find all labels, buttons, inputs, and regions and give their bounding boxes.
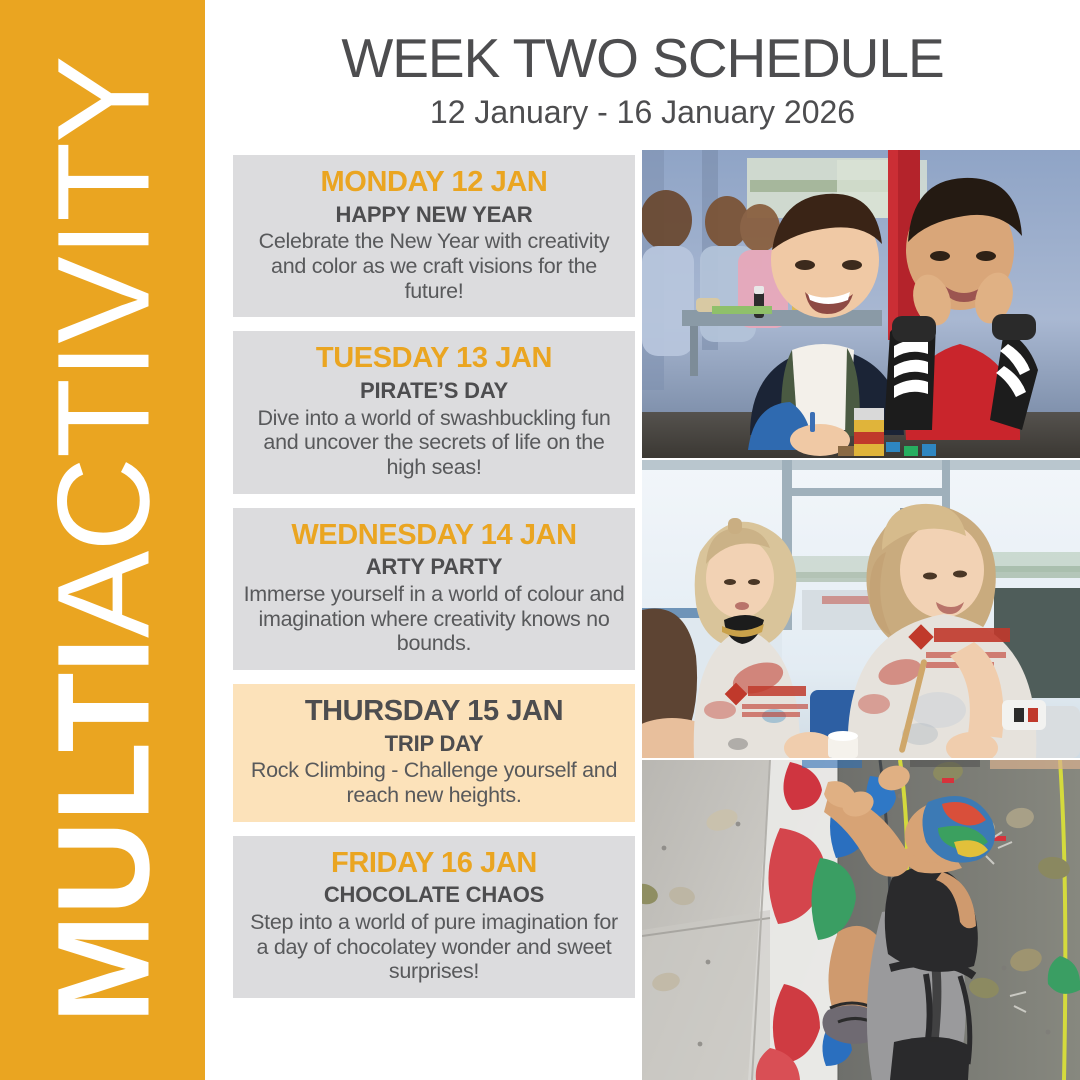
photo-lego-craft	[642, 150, 1080, 458]
poster-canvas: MULTIACTIVITY WEEK TWO SCHEDULE 12 Janua…	[0, 0, 1080, 1080]
brand-rail: MULTIACTIVITY	[0, 0, 205, 1080]
page-title: WEEK TWO SCHEDULE	[205, 0, 1080, 88]
day-card-activity: CHOCOLATE CHAOS	[243, 882, 625, 908]
day-card-activity: ARTY PARTY	[243, 554, 625, 580]
poster-header: WEEK TWO SCHEDULE 12 January - 16 Januar…	[205, 0, 1080, 150]
photo-arty-painting	[642, 460, 1080, 758]
day-card-activity: PIRATE’S DAY	[243, 378, 625, 404]
day-card-description: Celebrate the New Year with creativity a…	[243, 229, 625, 303]
day-card-activity: HAPPY NEW YEAR	[243, 202, 625, 228]
day-card-activity: TRIP DAY	[243, 731, 625, 757]
day-card-title: THURSDAY 15 JAN	[243, 694, 625, 729]
day-card-monday: MONDAY 12 JAN HAPPY NEW YEAR Celebrate t…	[233, 155, 635, 317]
day-card-title: WEDNESDAY 14 JAN	[243, 518, 625, 553]
photo-column	[642, 150, 1080, 1080]
day-card-title: FRIDAY 16 JAN	[243, 846, 625, 881]
day-card-description: Rock Climbing - Challenge yourself and r…	[243, 758, 625, 807]
day-card-description: Immerse yourself in a world of colour an…	[243, 582, 625, 656]
day-card-title: TUESDAY 13 JAN	[243, 341, 625, 376]
page-subtitle-date-range: 12 January - 16 January 2026	[205, 88, 1080, 131]
day-card-friday: FRIDAY 16 JAN CHOCOLATE CHAOS Step into …	[233, 836, 635, 998]
photo-rock-climbing	[642, 760, 1080, 1080]
day-card-wednesday: WEDNESDAY 14 JAN ARTY PARTY Immerse your…	[233, 508, 635, 670]
brand-wordmark-strong: MULTI	[29, 638, 176, 1023]
brand-wordmark: MULTIACTIVITY	[37, 56, 168, 1023]
day-card-description: Dive into a world of swashbuckling fun a…	[243, 406, 625, 480]
day-card-title: MONDAY 12 JAN	[243, 165, 625, 200]
day-card-description: Step into a world of pure imagination fo…	[243, 910, 625, 984]
brand-wordmark-light: ACTIVITY	[29, 56, 176, 638]
day-card-thursday: THURSDAY 15 JAN TRIP DAY Rock Climbing -…	[233, 684, 635, 822]
schedule-list: MONDAY 12 JAN HAPPY NEW YEAR Celebrate t…	[233, 155, 635, 1012]
day-card-tuesday: TUESDAY 13 JAN PIRATE’S DAY Dive into a …	[233, 331, 635, 493]
